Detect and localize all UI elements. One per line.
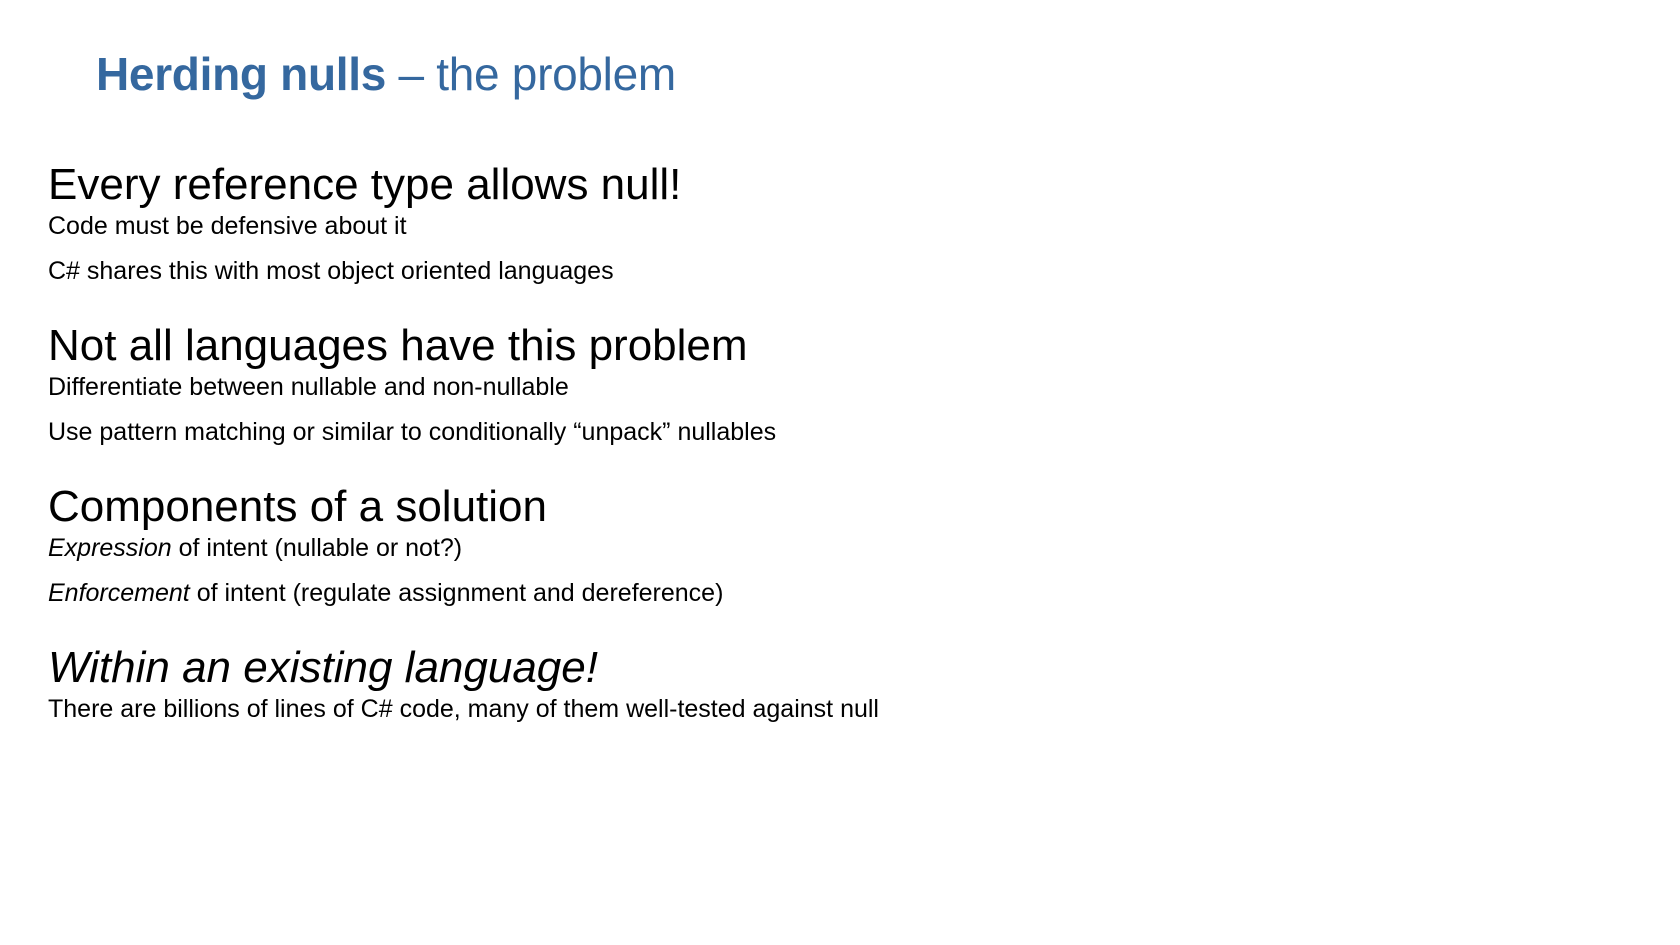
section-line-text: C# shares this with most object oriented… xyxy=(48,257,614,285)
slide-title-separator: – xyxy=(386,48,436,100)
section-line-emphasis: Expression xyxy=(48,534,172,562)
presentation-slide: Herding nulls – the problem Every refere… xyxy=(0,0,1680,945)
section-line-emphasis: Enforcement xyxy=(48,579,190,607)
section-line-text: Use pattern matching or similar to condi… xyxy=(48,418,776,446)
slide-title: Herding nulls – the problem xyxy=(96,48,676,101)
section-block: Not all languages have this problem Diff… xyxy=(48,324,1608,445)
section-heading: Within an existing language! xyxy=(48,646,1608,690)
section-line: Use pattern matching or similar to condi… xyxy=(48,420,1608,445)
section-line: There are billions of lines of C# code, … xyxy=(48,697,1608,722)
section-line: Enforcement of intent (regulate assignme… xyxy=(48,581,1608,606)
section-block: Every reference type allows null! Code m… xyxy=(48,163,1608,284)
section-block: Within an existing language! There are b… xyxy=(48,646,1608,722)
section-line-text: Code must be defensive about it xyxy=(48,212,407,240)
section-heading: Every reference type allows null! xyxy=(48,163,1608,207)
section-line-text: There are billions of lines of C# code, … xyxy=(48,695,879,723)
section-line-text: Differentiate between nullable and non-n… xyxy=(48,373,569,401)
section-line: Differentiate between nullable and non-n… xyxy=(48,375,1608,400)
slide-body: Every reference type allows null! Code m… xyxy=(48,163,1608,728)
slide-title-strong: Herding nulls xyxy=(96,48,386,100)
slide-title-rest: the problem xyxy=(436,48,676,100)
section-line: Expression of intent (nullable or not?) xyxy=(48,536,1608,561)
section-line: Code must be defensive about it xyxy=(48,214,1608,239)
section-line-text: of intent (regulate assignment and deref… xyxy=(190,579,724,607)
section-block: Components of a solution Expression of i… xyxy=(48,485,1608,606)
section-heading: Not all languages have this problem xyxy=(48,324,1608,368)
section-line: C# shares this with most object oriented… xyxy=(48,259,1608,284)
section-heading: Components of a solution xyxy=(48,485,1608,529)
section-line-text: of intent (nullable or not?) xyxy=(172,534,462,562)
